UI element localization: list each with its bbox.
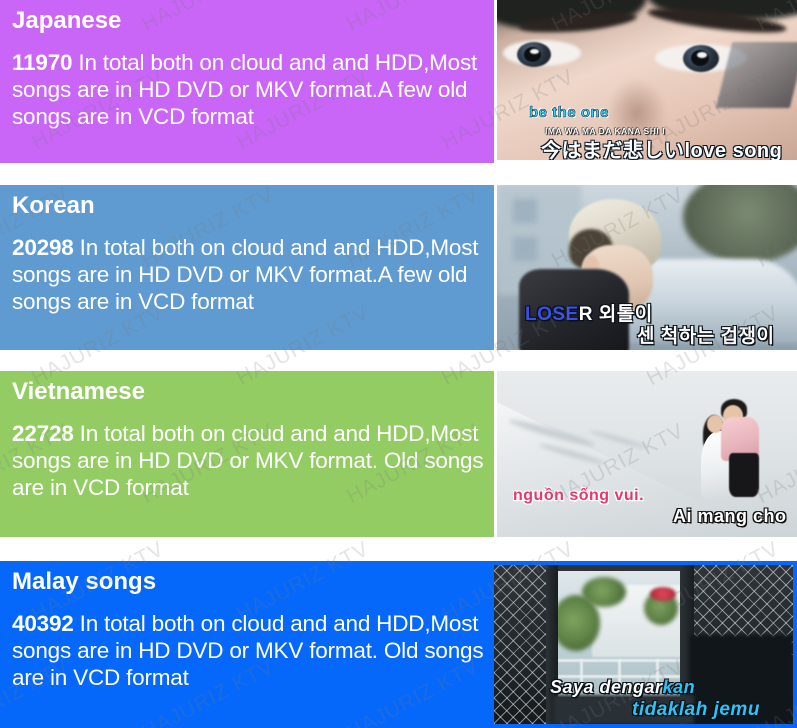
subtitle-text-korean-1a: LOSE xyxy=(525,304,579,325)
subtitle-line1-malay: Saya dengarkan xyxy=(550,677,695,698)
song-count-korean: 20298 xyxy=(12,235,74,260)
thumbnail-malay[interactable]: Saya dengarkan tidaklah jemu xyxy=(490,561,797,728)
language-row-korean: Korean 20298 In total both on cloud and … xyxy=(0,185,797,351)
subtitle-line2-japanese: 今はまだ悲しいlove song xyxy=(541,134,782,160)
panel-korean[interactable]: Korean 20298 In total both on cloud and … xyxy=(0,185,494,350)
panel-body-vietnamese: 22728 In total both on cloud and and HDD… xyxy=(12,420,484,501)
subtitle-text-korean-2: 센 척하는 겁쟁이 xyxy=(637,326,774,347)
subtitle-line1-korean: LOSER 외톨이 xyxy=(525,299,653,326)
foliage-top xyxy=(582,577,626,607)
subtitle-text-vietnamese-1: nguồn sống vui. xyxy=(513,487,644,504)
song-count-malay: 40392 xyxy=(12,611,74,636)
panel-description-vietnamese: In total both on cloud and and HDD,Most … xyxy=(12,421,483,500)
song-count-vietnamese: 22728 xyxy=(12,421,74,446)
subtitle-text-malay-2: tidaklah jemu xyxy=(632,699,760,720)
subtitle-text-japanese-1: be the one xyxy=(529,104,609,121)
building-blur-window xyxy=(513,199,537,223)
panel-malay[interactable]: Malay songs 40392 In total both on cloud… xyxy=(0,561,494,728)
thumbnail-japanese[interactable]: be the one IMA WA MA DA KANA SHI I 今はまだ悲… xyxy=(497,0,797,160)
subtitle-text-vietnamese-2: Ai mang cho xyxy=(673,506,787,526)
subtitle-line2-korean: 센 척하는 겁쟁이 xyxy=(637,321,774,348)
panel-body-malay: 40392 In total both on cloud and and HDD… xyxy=(12,610,484,691)
panel-title-vietnamese: Vietnamese xyxy=(12,378,484,406)
panel-description-korean: In total both on cloud and and HDD,Most … xyxy=(12,235,478,314)
panel-vietnamese[interactable]: Vietnamese 22728 In total both on cloud … xyxy=(0,371,494,537)
subtitle-line1-vietnamese: nguồn sống vui. xyxy=(513,487,644,505)
song-count-japanese: 11970 xyxy=(12,50,72,75)
panel-title-malay: Malay songs xyxy=(12,568,484,596)
panel-description-malay: In total both on cloud and and HDD,Most … xyxy=(12,611,483,690)
subtitle-text-malay-1a: Saya dengar xyxy=(550,677,663,697)
panel-body-japanese: 11970 In total both on cloud and and HDD… xyxy=(12,49,484,130)
panel-body-korean: 20298 In total both on cloud and and HDD… xyxy=(12,234,484,315)
panel-title-japanese: Japanese xyxy=(12,7,484,35)
thumbnail-korean[interactable]: LOSER 외톨이 센 척하는 겁쟁이 xyxy=(497,185,797,350)
subtitle-line2-malay: tidaklah jemu xyxy=(632,699,760,721)
thumbnail-vietnamese[interactable]: nguồn sống vui. Ai mang cho xyxy=(497,371,797,537)
panel-japanese[interactable]: Japanese 11970 In total both on cloud an… xyxy=(0,0,494,163)
panel-description-japanese: In total both on cloud and and HDD,Most … xyxy=(12,50,477,129)
eye-glint-right xyxy=(697,52,707,58)
poster-root: Japanese 11970 In total both on cloud an… xyxy=(0,0,797,728)
subtitle-line1-japanese: be the one xyxy=(529,104,609,121)
language-row-vietnamese: Vietnamese 22728 In total both on cloud … xyxy=(0,371,797,539)
subtitle-text-malay-1b: kan xyxy=(663,677,696,697)
building-blur-window-2 xyxy=(513,237,537,261)
eye-glint-left xyxy=(530,49,539,54)
panel-title-korean: Korean xyxy=(12,192,484,220)
subtitle-text-japanese-2: 今はまだ悲しいlove song xyxy=(541,140,782,160)
language-row-malay: Malay songs 40392 In total both on cloud… xyxy=(0,561,797,728)
language-row-japanese: Japanese 11970 In total both on cloud an… xyxy=(0,0,797,165)
man-pants xyxy=(729,453,759,497)
red-flowers xyxy=(650,587,676,601)
subtitle-line2-vietnamese: Ai mang cho xyxy=(673,506,787,527)
